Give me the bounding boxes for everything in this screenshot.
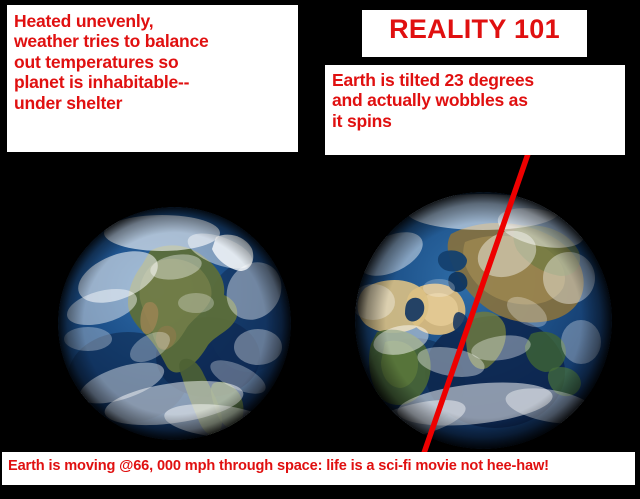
tilt-caption-box: Earth is tilted 23 degrees and actually … — [325, 65, 625, 155]
slide-canvas: Heated unevenly, weather tries to balanc… — [0, 0, 640, 499]
page-title: REALITY 101 — [362, 10, 587, 57]
left-caption-line-5: under shelter — [14, 93, 293, 113]
earth-globe-africa-asia — [355, 192, 612, 449]
tilt-caption-line-3: it spins — [332, 111, 621, 131]
bottom-caption-bar: Earth is moving @66, 000 mph through spa… — [2, 452, 635, 485]
left-caption-line-4: planet is inhabitable-- — [14, 72, 293, 92]
tilt-caption-line-2: and actually wobbles as — [332, 90, 621, 110]
earth-globe-americas — [58, 207, 291, 440]
left-caption-line-1: Heated unevenly, — [14, 11, 293, 31]
left-caption-line-2: weather tries to balance — [14, 31, 293, 51]
tilt-caption-line-1: Earth is tilted 23 degrees — [332, 70, 621, 90]
left-caption-box: Heated unevenly, weather tries to balanc… — [7, 5, 298, 152]
left-caption-line-3: out temperatures so — [14, 52, 293, 72]
